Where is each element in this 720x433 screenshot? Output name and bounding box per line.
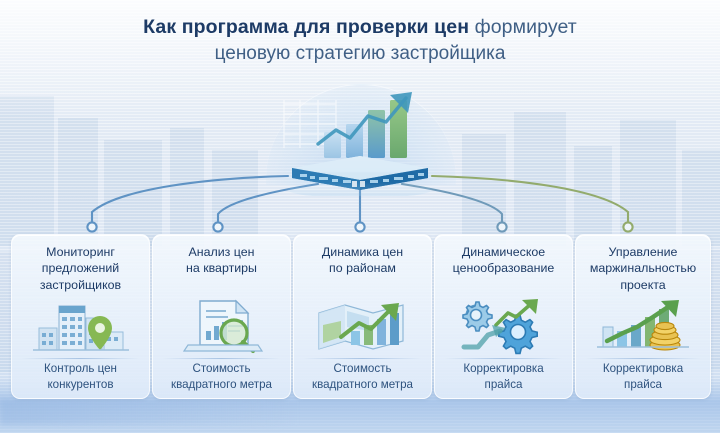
connector-node-2 — [213, 222, 222, 231]
card-monitoring[interactable]: Мониторингпредложенийзастройщиков — [11, 234, 150, 399]
card-divider — [21, 358, 140, 359]
connector-node-3 — [355, 222, 364, 231]
card-dynamic-pricing[interactable]: Динамическоеценообразование — [434, 234, 573, 399]
card-caption: Стоимостьквадратного метра — [297, 361, 428, 392]
hub-graphic — [240, 86, 480, 196]
card-caption: Корректировкапрайса — [438, 361, 569, 392]
connector-node-5 — [623, 222, 632, 231]
card-caption: Контроль ценконкурентов — [15, 361, 146, 392]
connector-node-4 — [497, 222, 506, 231]
page-title-light: формирует — [469, 16, 577, 38]
buildings-map-pin-icon — [12, 295, 149, 357]
connector-node-1 — [87, 222, 96, 231]
bar-chart-coins-arrow-icon — [576, 295, 710, 357]
card-title: Анализ ценна квартиры — [157, 244, 286, 277]
card-caption: Корректировкапрайса — [579, 361, 707, 392]
document-magnifier-icon — [153, 295, 290, 357]
gears-arrows-icon — [435, 295, 572, 357]
card-title: Мониторингпредложенийзастройщиков — [16, 244, 145, 293]
card-title: Управлениемаржинальностьюпроекта — [580, 244, 706, 293]
card-caption: Стоимостьквадратного метра — [156, 361, 287, 392]
card-divider — [444, 358, 563, 359]
card-price-analysis[interactable]: Анализ ценна квартиры — [152, 234, 291, 399]
page-title-strong: Как программа для проверки цен — [143, 16, 469, 38]
card-divider — [303, 358, 422, 359]
card-district-dynamics[interactable]: Динамика ценпо районам — [293, 234, 432, 399]
page-title: Как программа для проверки цен формирует… — [0, 14, 720, 67]
card-divider — [162, 358, 281, 359]
floor-streak — [0, 399, 300, 425]
infographic-canvas: Как программа для проверки цен формирует… — [0, 0, 720, 433]
map-bar-chart-arrow-icon — [294, 295, 431, 357]
feature-cards: Мониторингпредложенийзастройщиков — [0, 234, 720, 399]
card-divider — [585, 358, 701, 359]
card-title: Динамическоеценообразование — [439, 244, 568, 277]
card-margin-management[interactable]: Управлениемаржинальностьюпроекта — [575, 234, 711, 399]
card-title: Динамика ценпо районам — [298, 244, 427, 277]
page-title-line2: ценовую стратегию застройщика — [0, 41, 720, 67]
